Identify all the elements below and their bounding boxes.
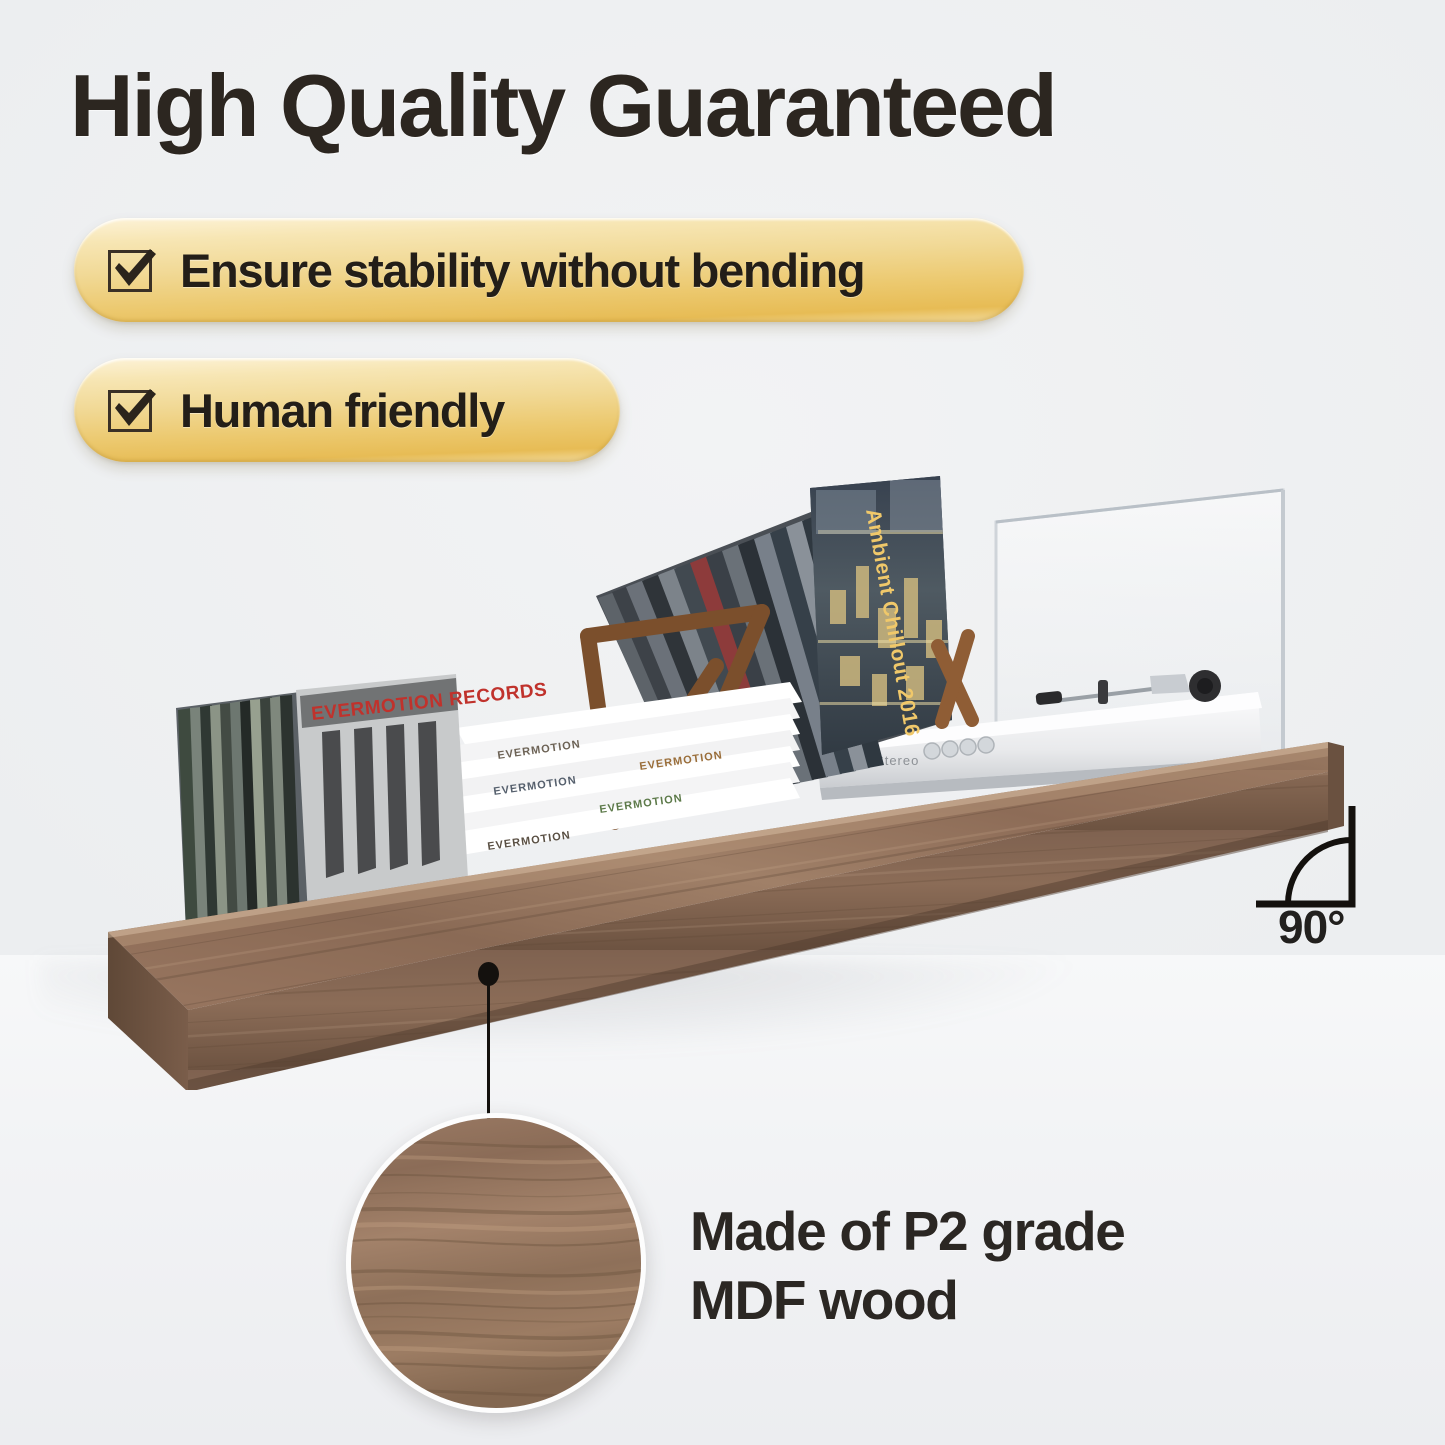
callout-line-2: MDF wood [690,1266,1125,1335]
product-infographic: High Quality Guaranteed Ensure stability… [0,0,1445,1445]
callout-dot [478,962,499,986]
feature-badge-stability: Ensure stability without bending [74,218,1024,322]
checkbox-checked-icon [106,245,158,295]
page-title: High Quality Guaranteed [70,62,1056,150]
wood-grain-zoom-circle [346,1113,646,1413]
callout-text: Made of P2 grade MDF wood [690,1197,1125,1336]
callout-leader-line [487,984,490,1122]
feature-badge-label: Ensure stability without bending [180,243,864,298]
feature-badge-label: Human friendly [180,383,504,438]
floating-shelf-photo: Hi-Fi Stereo [0,470,1445,1090]
callout-line-1: Made of P2 grade [690,1197,1125,1266]
checkbox-checked-icon [106,385,158,435]
angle-value-label: 90° [1278,900,1345,954]
feature-badge-human-friendly: Human friendly [74,358,620,462]
magazine-stack: EVERMOTION EVERMOTION EVERMOTION EVERMOT… [432,682,802,858]
